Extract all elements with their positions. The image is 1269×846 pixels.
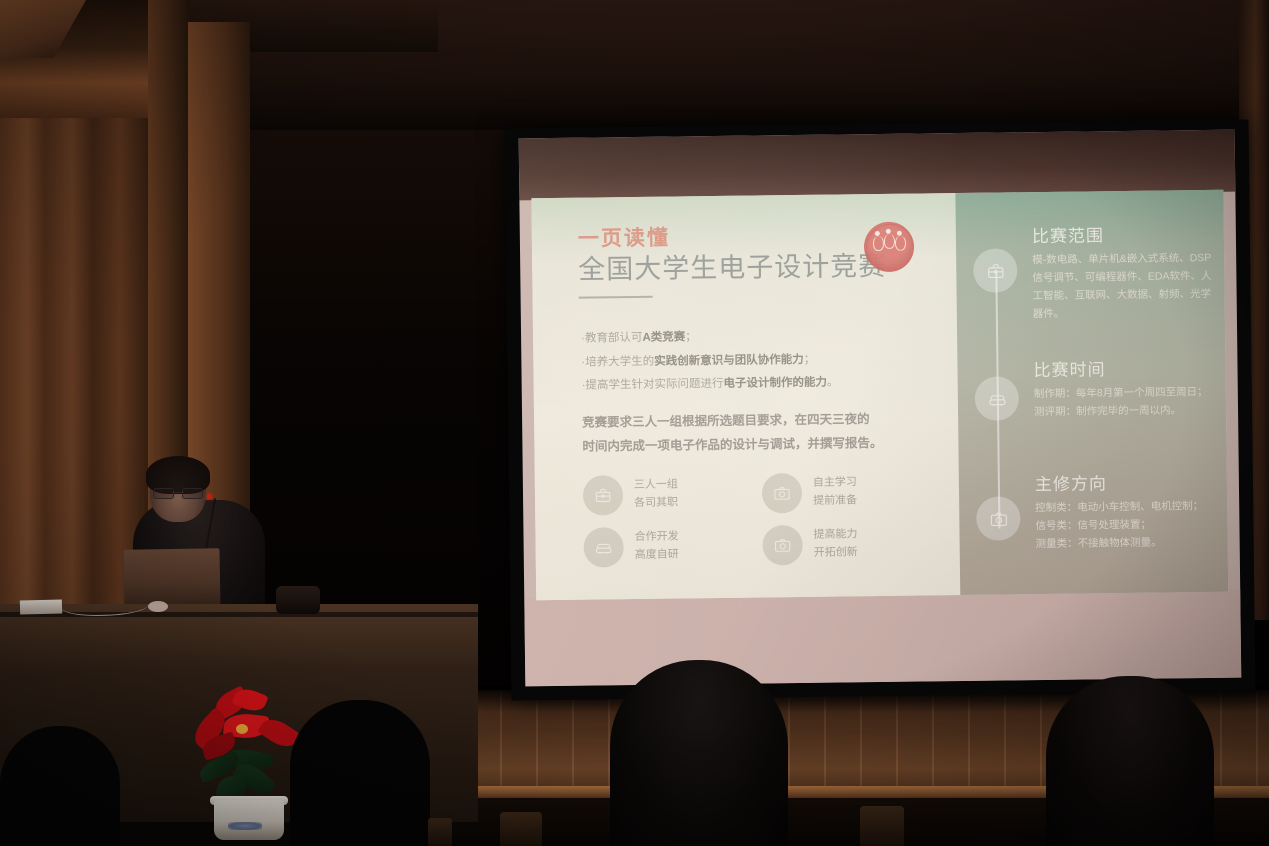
feature-line-1: 自主学习 — [813, 474, 857, 492]
audience-head — [0, 726, 120, 846]
feature-label: 自主学习 提前准备 — [813, 474, 857, 510]
slide-bullet-list: ·教育部认可A类竞赛； ·培养大学生的实践创新意识与团队协作能力； ·提高学生针… — [581, 324, 913, 459]
paragraph-line: 时间内完成一项电子作品的设计与调试，并撰写报告。 — [582, 431, 912, 459]
slide-left-panel: 一页读懂 全国大学生电子设计竞赛 — [531, 193, 960, 600]
timeline-body: 制作期：每年8月第一个周四至周日； 测评期：制作完毕的一周以内。 — [1034, 384, 1218, 422]
timeline-body: 模-数电路、单片机&嵌入式系统、DSP 信号调节、可编程器件、EDA软件、人 工… — [1032, 250, 1217, 324]
timeline-heading: 比赛时间 — [1033, 358, 1217, 381]
slide-paragraph: 竞赛要求三人一组根据所选题目要求，在四天三夜的 时间内完成一项电子作品的设计与调… — [582, 406, 913, 459]
title-underline-rule — [579, 295, 653, 298]
projection-screen-frame: 一页读懂 全国大学生电子设计竞赛 — [505, 119, 1256, 700]
feature-label: 三人一组 各司其职 — [634, 477, 678, 513]
feature-line-2: 提前准备 — [813, 492, 857, 510]
bullet-suffix: ； — [685, 331, 697, 343]
projection-screen-surface: 一页读懂 全国大学生电子设计竞赛 — [519, 130, 1242, 687]
slide-title-accent: 一页读懂 — [578, 224, 886, 252]
timeline-text-block: 比赛范围 模-数电路、单片机&嵌入式系统、DSP 信号调节、可编程器件、EDA软… — [1032, 224, 1217, 324]
lecture-hall-scene: 一页读懂 全国大学生电子设计竞赛 — [0, 0, 1269, 846]
camera-icon — [762, 525, 802, 565]
timeline-line: 工智能、互联网、大数据、射频、光学 — [1033, 286, 1217, 306]
feature-line-2: 开拓创新 — [814, 544, 858, 562]
feature-label: 合作开发 高度自研 — [634, 529, 678, 565]
feature-item: 三人一组 各司其职 — [583, 474, 740, 516]
bullet-suffix: 。 — [827, 377, 839, 389]
mouse-device — [148, 601, 168, 612]
audience-head — [290, 700, 430, 846]
audience-head — [610, 660, 788, 846]
plant-pot — [214, 800, 284, 840]
feature-line-1: 提高能力 — [813, 526, 857, 544]
seat-back — [860, 806, 904, 846]
timeline-line: 测量类：不接触物体测量。 — [1036, 534, 1220, 554]
timeline-heading: 比赛范围 — [1032, 224, 1216, 247]
feature-item: 自主学习 提前准备 — [762, 472, 919, 514]
bullet-item: ·提高学生针对实际问题进行电子设计制作的能力。 — [582, 371, 912, 399]
plant-pot-decoration — [228, 822, 262, 830]
feature-item: 提高能力 开拓创新 — [762, 524, 919, 566]
camera-icon — [762, 473, 802, 513]
timeline-body: 控制类：电动小车控制、电机控制； 信号类：信号处理装置； 测量类：不接触物体测量… — [1035, 498, 1220, 554]
bullet-prefix: ·提高学生针对实际问题进行 — [582, 378, 724, 392]
feature-line-1: 三人一组 — [634, 477, 678, 495]
timeline-entry: 比赛范围 模-数电路、单片机&嵌入式系统、DSP 信号调节、可编程器件、EDA软… — [956, 224, 1224, 227]
screen-bottom-band — [524, 590, 1241, 687]
sofa-icon — [975, 376, 1020, 421]
timeline-text-block: 比赛时间 制作期：每年8月第一个周四至周日； 测评期：制作完毕的一周以内。 — [1033, 358, 1218, 422]
briefcase-icon — [583, 475, 623, 515]
timeline-line: 控制类：电动小车控制、电机控制； — [1035, 498, 1219, 518]
presentation-slide: 一页读懂 全国大学生电子设计竞赛 — [531, 190, 1228, 600]
timeline-text-block: 主修方向 控制类：电动小车控制、电机控制； 信号类：信号处理装置； 测量类：不接… — [1035, 472, 1220, 554]
slide-title-block: 一页读懂 全国大学生电子设计竞赛 — [578, 224, 887, 298]
presenter-glasses — [153, 488, 203, 497]
bullet-prefix: ·培养大学生的 — [581, 355, 654, 368]
equipment-box — [276, 586, 320, 614]
feature-label: 提高能力 开拓创新 — [813, 526, 857, 562]
seat-back — [500, 812, 542, 846]
bullet-bold: 电子设计制作的能力 — [723, 377, 827, 390]
screen-top-band — [519, 130, 1236, 201]
paper-sheet — [20, 599, 62, 614]
feature-line-2: 各司其职 — [634, 494, 678, 512]
slide-right-panel: 比赛范围 模-数电路、单片机&嵌入式系统、DSP 信号调节、可编程器件、EDA软… — [955, 190, 1228, 595]
feature-line-2: 高度自研 — [635, 546, 679, 564]
slide-feature-grid: 三人一组 各司其职 自主学习 提前准备 — [583, 472, 920, 568]
microphone-led-icon — [207, 494, 212, 499]
audience-head — [1046, 676, 1214, 846]
competition-emblem-icon — [864, 222, 915, 273]
timeline-line: 测评期：制作完毕的一周以内。 — [1034, 402, 1218, 422]
timeline-heading: 主修方向 — [1035, 472, 1219, 495]
timeline-line: 制作期：每年8月第一个周四至周日； — [1034, 384, 1218, 404]
feature-item: 合作开发 高度自研 — [583, 526, 740, 568]
bullet-bold: A类竞赛 — [642, 331, 685, 344]
slide-title-main: 全国大学生电子设计竞赛 — [578, 250, 886, 286]
timeline-line: 模-数电路、单片机&嵌入式系统、DSP — [1032, 250, 1216, 270]
camera-icon — [976, 496, 1021, 541]
timeline-line: 信号调节、可编程器件、EDA软件、人 — [1032, 268, 1216, 288]
sofa-icon — [583, 527, 623, 567]
bullet-prefix: ·教育部认可 — [581, 332, 642, 345]
seat-back — [428, 818, 452, 846]
bullet-suffix: ； — [804, 353, 816, 365]
bullet-bold: 实践创新意识与团队协作能力 — [654, 353, 804, 367]
feature-line-1: 合作开发 — [634, 529, 678, 547]
timeline-line: 信号类：信号处理装置； — [1035, 516, 1219, 536]
briefcase-icon — [973, 248, 1018, 293]
timeline-line: 器件。 — [1033, 304, 1217, 324]
